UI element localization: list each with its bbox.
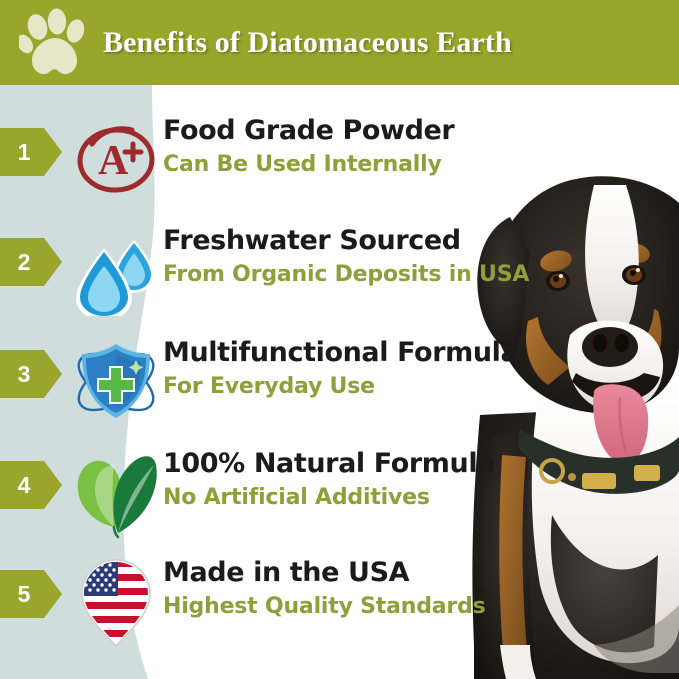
benefit-subtitle-3: For Everyday Use xyxy=(163,372,563,402)
benefit-subtitle-4: No Artificial Additives xyxy=(163,483,563,513)
benefit-number-2: 2 xyxy=(0,238,48,286)
paw-print-icon xyxy=(19,6,91,80)
benefit-title-2: Freshwater Sourced xyxy=(163,224,563,258)
header-banner: Benefits of Diatomaceous Earth xyxy=(0,0,679,85)
benefit-number-3: 3 xyxy=(0,350,48,398)
a-plus-grade-icon: A xyxy=(70,110,162,206)
usa-flag-map-pin-icon xyxy=(70,552,162,648)
benefit-number-1: 1 xyxy=(0,128,48,176)
benefit-row-3: 3 Multifunctional Formula For Everyday U… xyxy=(0,332,679,428)
benefit-number-badge-5: 5 xyxy=(0,570,62,618)
benefit-number-badge-3: 3 xyxy=(0,350,62,398)
benefit-number-badge-1: 1 xyxy=(0,128,62,176)
benefit-text-5: Made in the USA Highest Quality Standard… xyxy=(163,556,563,622)
benefit-text-1: Food Grade Powder Can Be Used Internally xyxy=(163,114,563,180)
benefit-number-badge-2: 2 xyxy=(0,238,62,286)
benefit-text-4: 100% Natural Formula No Artificial Addit… xyxy=(163,447,563,513)
page-title: Benefits of Diatomaceous Earth xyxy=(103,0,512,85)
benefit-title-1: Food Grade Powder xyxy=(163,114,563,148)
water-droplets-icon xyxy=(70,220,162,316)
benefit-subtitle-1: Can Be Used Internally xyxy=(163,150,563,180)
benefit-subtitle-5: Highest Quality Standards xyxy=(163,592,563,622)
svg-text:A: A xyxy=(98,138,129,184)
benefit-row-4: 4 100% Natural Formula No Artificial Add… xyxy=(0,443,679,539)
benefit-number-badge-4: 4 xyxy=(0,461,62,509)
two-leaves-icon xyxy=(70,443,162,539)
benefit-subtitle-2: From Organic Deposits in USA xyxy=(163,260,563,290)
benefit-text-3: Multifunctional Formula For Everyday Use xyxy=(163,336,563,402)
benefit-row-1: 1 A Food Grade Powder Can Be Used Intern… xyxy=(0,110,679,206)
benefit-title-4: 100% Natural Formula xyxy=(163,447,563,481)
infographic-root: Benefits of Diatomaceous Earth xyxy=(0,0,679,679)
shield-atom-medical-cross-icon xyxy=(70,332,162,428)
benefit-text-2: Freshwater Sourced From Organic Deposits… xyxy=(163,224,563,290)
benefit-row-5: 5 xyxy=(0,552,679,648)
benefit-number-4: 4 xyxy=(0,461,48,509)
benefit-title-5: Made in the USA xyxy=(163,556,563,590)
benefit-row-2: 2 Freshwater Sourced From Organic Deposi… xyxy=(0,220,679,316)
benefit-number-5: 5 xyxy=(0,570,48,618)
benefit-title-3: Multifunctional Formula xyxy=(163,336,563,370)
